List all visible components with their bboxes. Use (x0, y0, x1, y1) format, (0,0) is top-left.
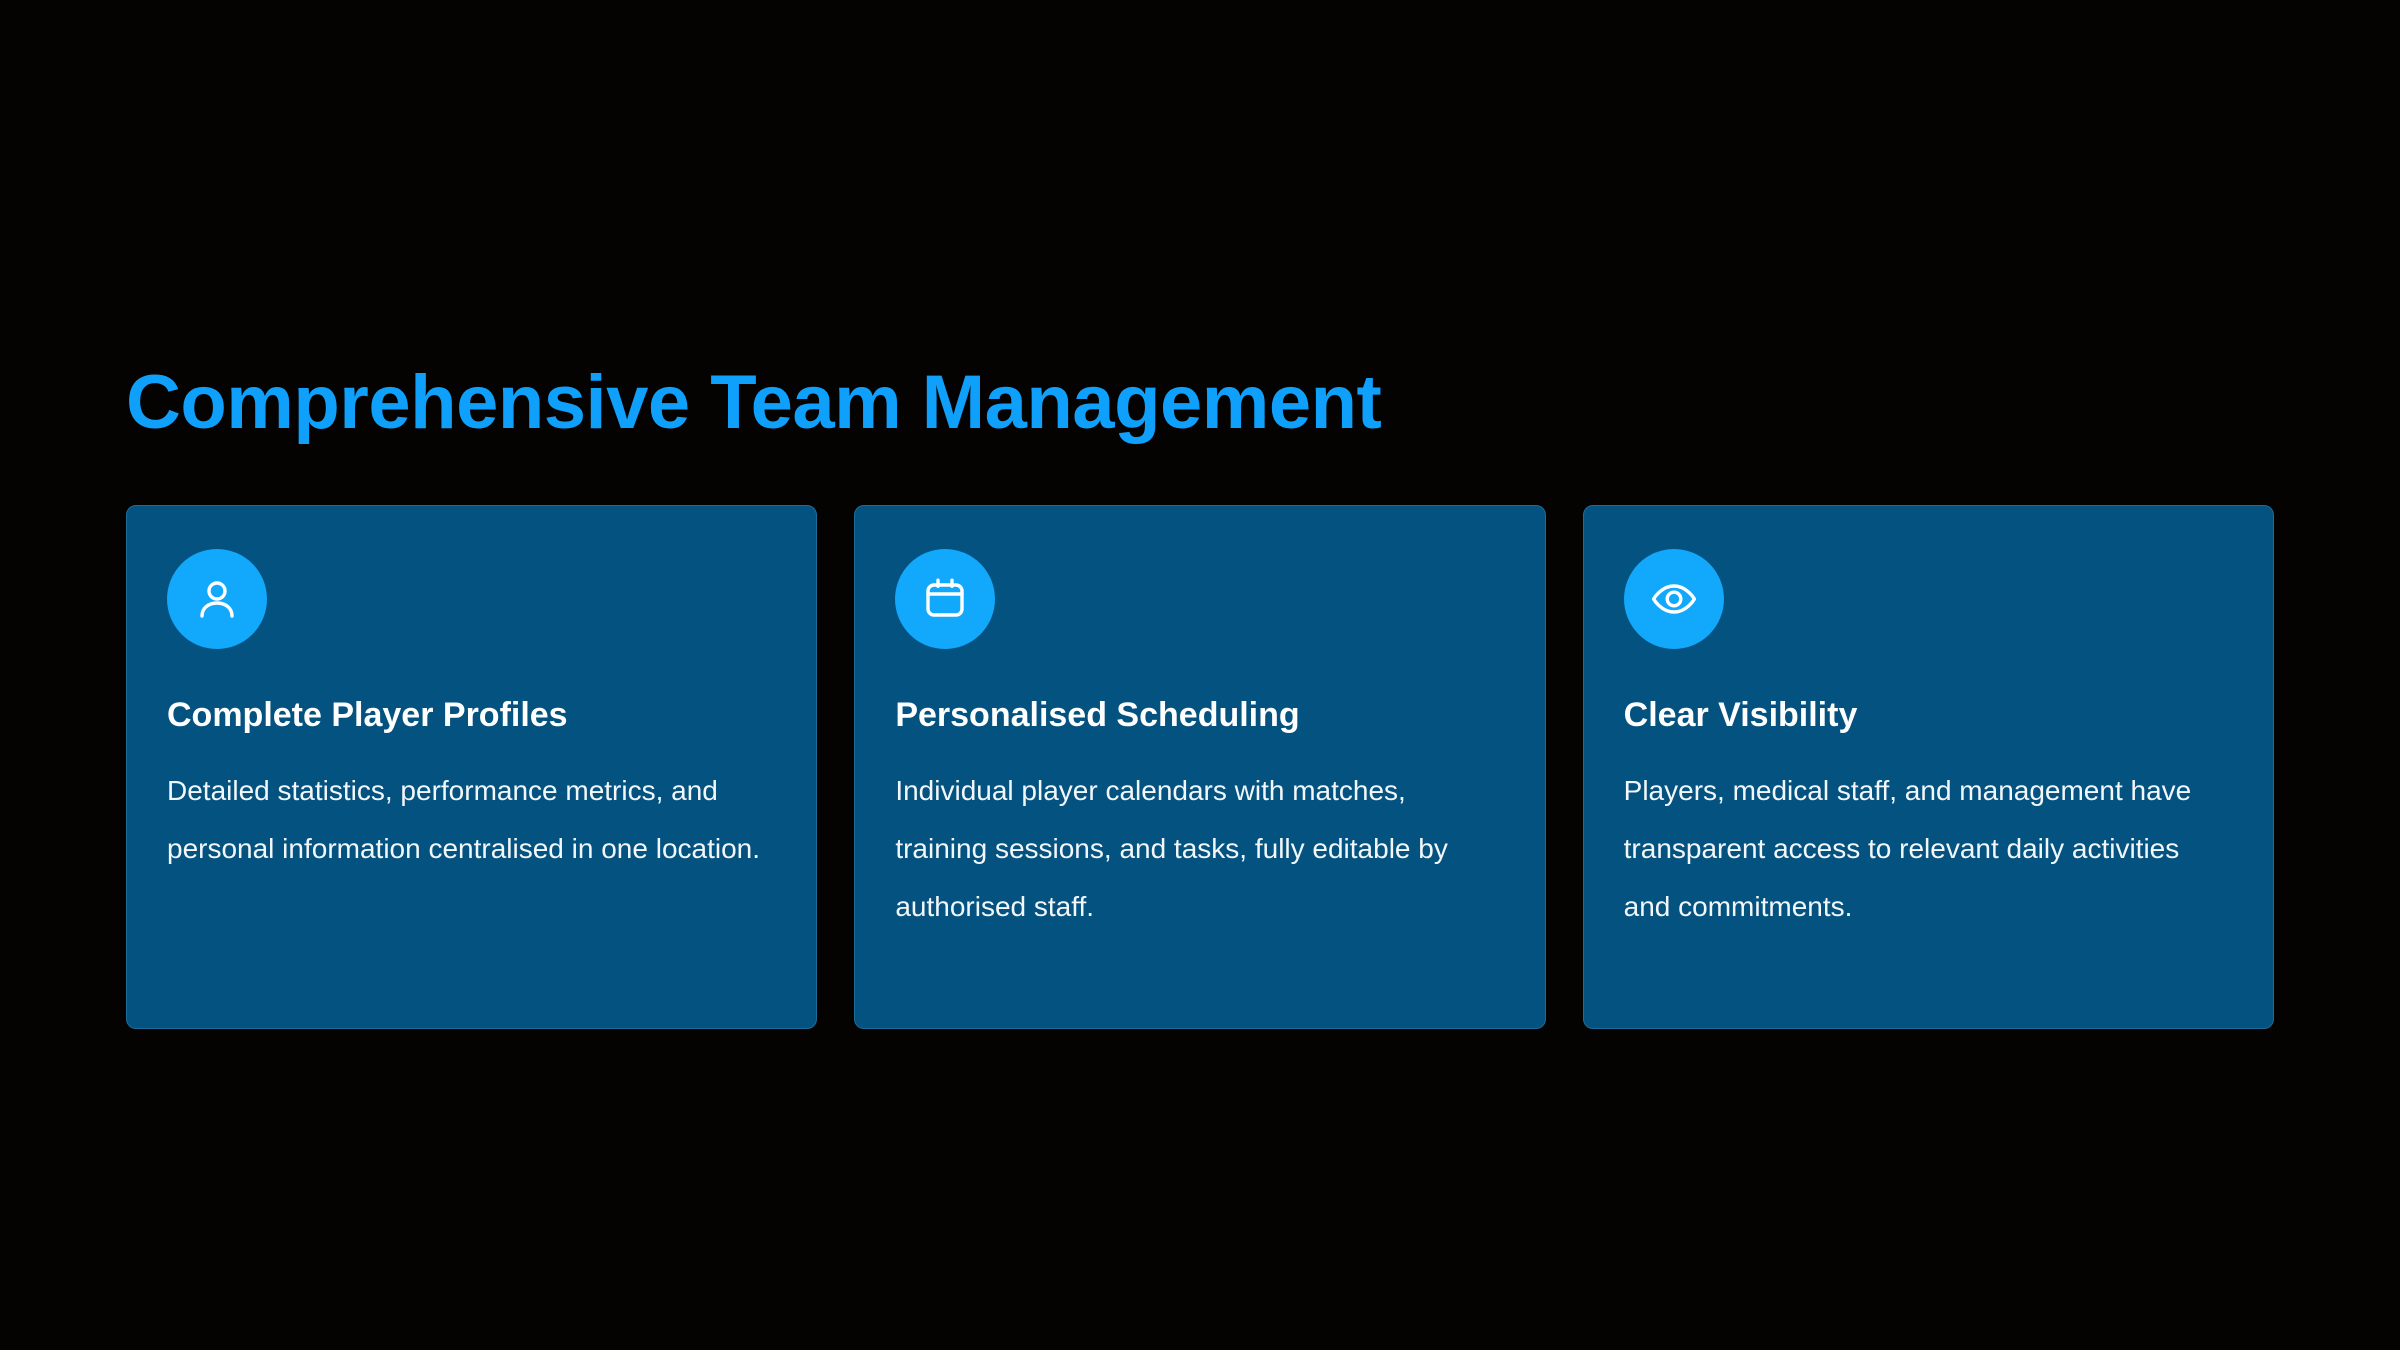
feature-card-personalised-scheduling[interactable]: Personalised Scheduling Individual playe… (854, 505, 1545, 1029)
feature-section: Comprehensive Team Management Complete P… (0, 0, 2400, 1350)
feature-card-list: Complete Player Profiles Detailed statis… (126, 505, 2274, 1029)
feature-card-title: Personalised Scheduling (895, 695, 1504, 736)
feature-card-description: Individual player calendars with matches… (895, 762, 1504, 936)
feature-card-description: Players, medical staff, and management h… (1624, 762, 2233, 936)
eye-icon (1624, 549, 1724, 649)
feature-card-description: Detailed statistics, performance metrics… (167, 762, 776, 878)
calendar-icon (895, 549, 995, 649)
page-title: Comprehensive Team Management (126, 361, 1381, 445)
feature-card-title: Clear Visibility (1624, 695, 2233, 736)
feature-card-complete-player-profiles[interactable]: Complete Player Profiles Detailed statis… (126, 505, 817, 1029)
user-icon (167, 549, 267, 649)
feature-card-clear-visibility[interactable]: Clear Visibility Players, medical staff,… (1583, 505, 2274, 1029)
feature-card-title: Complete Player Profiles (167, 695, 776, 736)
